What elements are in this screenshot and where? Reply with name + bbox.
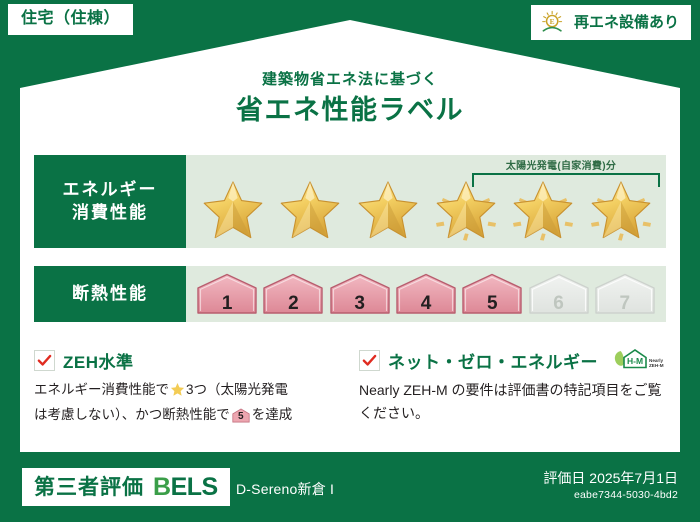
zeh-checkbox — [34, 350, 55, 371]
title-subtitle: 建築物省エネ法に基づく — [0, 68, 700, 89]
zeh-description: エネルギー消費性能で3つ（太陽光発電は考慮しない）、かつ断熱性能で5を達成 — [34, 379, 337, 426]
bels-logo-els: ELS — [171, 473, 218, 501]
insulation-level-value: 4 — [395, 294, 457, 313]
energy-star — [430, 176, 502, 246]
check-icon — [362, 353, 377, 368]
note-nze-header: ネット・ゼロ・エネルギー H-M Nearly ZEH-M — [359, 348, 666, 372]
star-icon — [352, 176, 424, 246]
svg-text:E: E — [550, 17, 555, 26]
energy-performance-label: エネルギー 消費性能 — [34, 155, 186, 248]
note-zeh-standard: ZEH水準 エネルギー消費性能で3つ（太陽光発電は考慮しない）、かつ断熱性能で5… — [34, 348, 337, 446]
insulation-level-value: 3 — [329, 294, 391, 313]
renewable-badge-label: 再エネ設備あり — [574, 15, 679, 30]
insulation-level-1: 1 — [196, 272, 258, 316]
energy-label-line2: 消費性能 — [72, 202, 148, 225]
note-zeh-header: ZEH水準 — [34, 348, 337, 372]
insulation-level-value: 5 — [461, 294, 523, 313]
star-icon — [197, 176, 269, 246]
bels-logo: BELS — [153, 475, 218, 500]
inline-house-value: 5 — [232, 412, 250, 422]
bels-logo-b: B — [153, 473, 171, 501]
building-type-tag: 住宅（住棟） — [8, 4, 133, 35]
insulation-level-7: 7 — [594, 272, 656, 316]
evaluation-id: eabe7344-5030-4bd2 — [574, 489, 678, 501]
energy-label-card: 住宅（住棟） E 再エネ設備あり 建築物省エネ法に基づく 省エネ性能ラベル エネ… — [0, 0, 700, 522]
insulation-level-3: 3 — [329, 272, 391, 316]
zeh-desc-part1: エネルギー消費性能で — [34, 382, 169, 397]
zeh-desc-part3: を達成 — [252, 407, 293, 422]
energy-star-rating — [186, 176, 666, 246]
insulation-level-6: 6 — [528, 272, 590, 316]
footer-bar: 第三者評価 BELS D-Sereno新倉 I 評価日 2025年7月1日 ea… — [0, 456, 700, 522]
star-icon — [585, 176, 657, 246]
energy-star — [274, 176, 346, 246]
energy-label-line1: エネルギー — [63, 179, 158, 202]
inline-house-icon: 5 — [232, 408, 250, 423]
insulation-level-4: 4 — [395, 272, 457, 316]
nze-checkbox — [359, 350, 380, 371]
insulation-performance-row: 断熱性能 1 2 3 — [34, 266, 666, 322]
zeh-desc-part2: は考慮しない）、かつ断熱性能で — [34, 407, 230, 422]
notes-section: ZEH水準 エネルギー消費性能で3つ（太陽光発電は考慮しない）、かつ断熱性能で5… — [34, 348, 666, 446]
energy-performance-body: 太陽光発電(自家消費)分 — [186, 155, 666, 248]
insulation-level-2: 2 — [262, 272, 324, 316]
insulation-level-value: 2 — [262, 294, 324, 313]
insulation-level-5: 5 — [461, 272, 523, 316]
energy-star — [352, 176, 424, 246]
insulation-performance-label: 断熱性能 — [34, 266, 186, 322]
zeh-title: ZEH水準 — [63, 348, 134, 373]
zeh-m-logo-sub2: ZEH-M — [649, 363, 664, 368]
check-icon — [37, 353, 52, 368]
insulation-level-scale: 1 2 3 4 — [186, 266, 666, 322]
evaluation-date: 評価日 2025年7月1日 — [543, 468, 678, 488]
nze-description: Nearly ZEH-M の要件は評価書の特記項目をご覧ください。 — [359, 379, 666, 424]
star-icon — [430, 176, 502, 246]
insulation-level-value: 6 — [528, 294, 590, 313]
zeh-m-logo-text: H-M — [627, 356, 643, 366]
third-party-eval-label: 第三者評価 — [34, 477, 144, 498]
energy-star — [197, 176, 269, 246]
energy-performance-row: エネルギー 消費性能 太陽光発電(自家消費)分 — [34, 155, 666, 248]
note-net-zero-energy: ネット・ゼロ・エネルギー H-M Nearly ZEH-M Nearly ZEH… — [337, 348, 666, 446]
star-icon — [274, 176, 346, 246]
insulation-performance-body: 1 2 3 4 — [186, 266, 666, 322]
nze-title: ネット・ゼロ・エネルギー — [388, 348, 598, 373]
sun-icon: E — [541, 10, 567, 34]
project-name: D-Sereno新倉 I — [236, 479, 334, 499]
star-icon — [507, 176, 579, 246]
inline-star-icon — [170, 382, 185, 404]
energy-star — [585, 176, 657, 246]
insulation-level-value: 7 — [594, 294, 656, 313]
page-title: 省エネ性能ラベル — [0, 88, 700, 127]
building-type-label: 住宅（住棟） — [21, 10, 120, 27]
zeh-desc-star-count: 3つ（太陽光発電 — [186, 382, 288, 397]
pv-bracket-label: 太陽光発電(自家消費)分 — [456, 157, 666, 172]
zeh-m-logo-icon: H-M Nearly ZEH-M — [610, 347, 666, 373]
bels-plate: 第三者評価 BELS — [22, 468, 230, 506]
energy-star — [507, 176, 579, 246]
insulation-level-value: 1 — [196, 294, 258, 313]
insulation-label-text: 断熱性能 — [72, 283, 148, 306]
renewable-energy-badge: E 再エネ設備あり — [531, 5, 691, 40]
